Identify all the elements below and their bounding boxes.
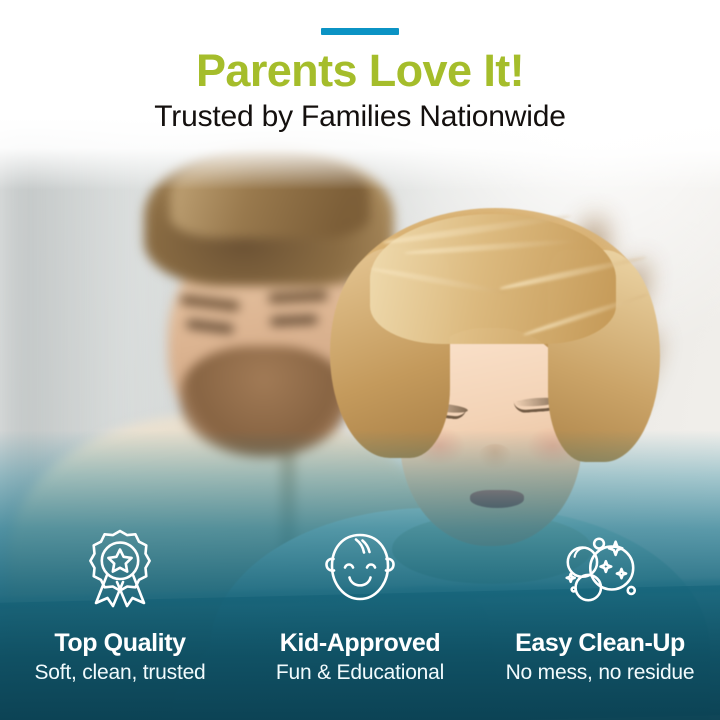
feature-item-easy-cleanup: Easy Clean-Up No mess, no residue [480,527,720,686]
feature-item-top-quality: Top Quality Soft, clean, trusted [0,527,240,686]
feature-title: Top Quality [54,629,185,657]
feature-row: Top Quality Soft, clean, trusted Kid-App… [0,527,720,686]
page-title: Parents Love It! [0,47,720,95]
feature-title: Kid-Approved [280,629,440,657]
feature-title: Easy Clean-Up [515,629,685,657]
feature-item-kid-approved: Kid-Approved Fun & Educational [240,527,480,686]
promo-banner: Parents Love It! Trusted by Families Nat… [0,0,720,720]
award-ribbon-icon [79,527,161,609]
feature-subtitle: Soft, clean, trusted [34,660,205,686]
child-face-icon [319,527,401,609]
feature-subtitle: Fun & Educational [276,660,444,686]
accent-bar [321,28,399,35]
feature-subtitle: No mess, no residue [506,660,695,686]
page-subtitle: Trusted by Families Nationwide [0,98,720,136]
bubbles-sparkle-icon [559,527,641,609]
